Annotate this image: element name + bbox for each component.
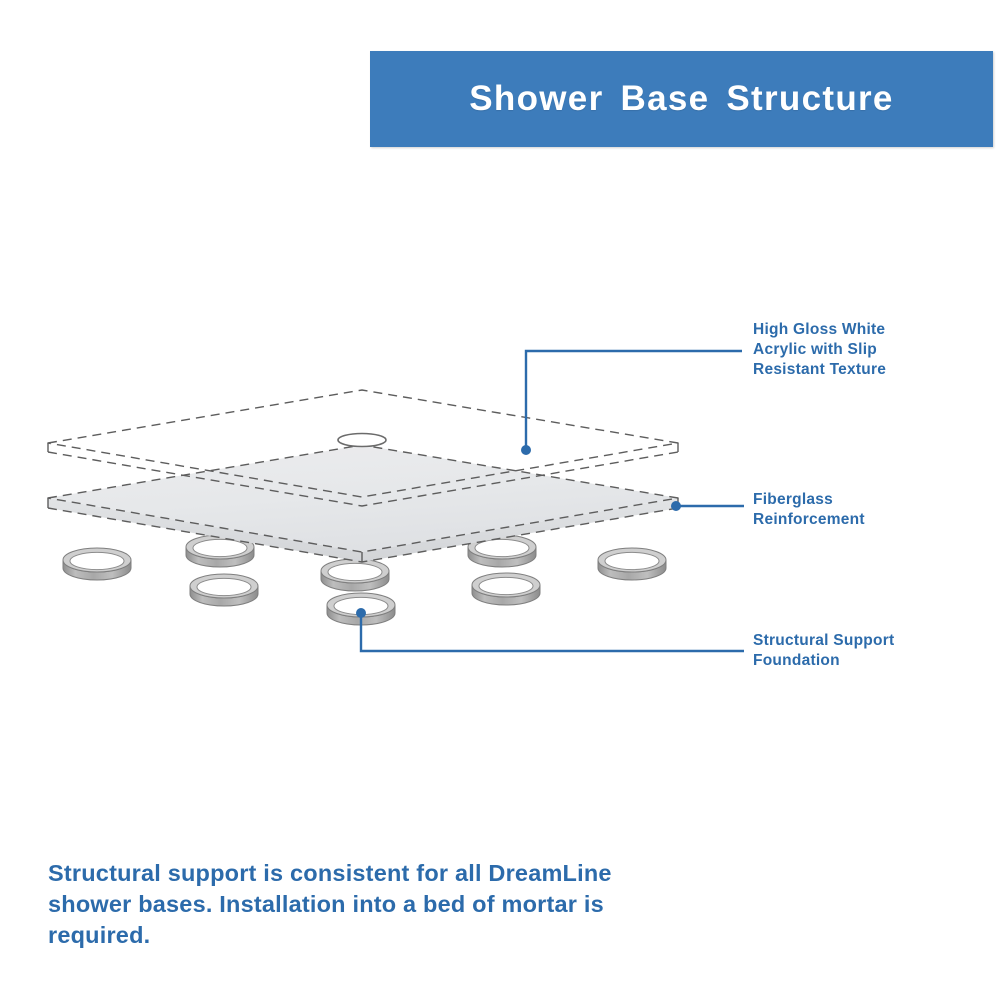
support-ring bbox=[598, 548, 666, 580]
leader-dot-structural bbox=[356, 608, 366, 618]
header-banner: Shower Base Structure bbox=[370, 51, 993, 147]
page-root: Shower Base Structure bbox=[0, 0, 1000, 1000]
support-ring bbox=[190, 574, 258, 606]
callout-label-fiberglass: Fiberglass Reinforcement bbox=[753, 490, 968, 530]
callout-label-structural: Structural Support Foundation bbox=[753, 631, 968, 671]
support-ring bbox=[186, 535, 254, 567]
leader-dot-acrylic bbox=[521, 445, 531, 455]
footer-note: Structural support is consistent for all… bbox=[48, 858, 688, 951]
support-ring bbox=[472, 573, 540, 605]
drain-ellipse bbox=[338, 434, 386, 447]
fiberglass-panel bbox=[48, 445, 678, 562]
support-ring bbox=[468, 535, 536, 567]
acrylic-top-panel bbox=[48, 390, 678, 506]
support-ring bbox=[321, 559, 389, 591]
structural-support-rings bbox=[63, 535, 666, 625]
leader-line-structural bbox=[361, 613, 744, 651]
support-ring bbox=[63, 548, 131, 580]
leader-line-acrylic bbox=[526, 351, 742, 450]
support-ring bbox=[327, 593, 395, 625]
callout-leader-lines bbox=[356, 351, 744, 651]
page-title: Shower Base Structure bbox=[469, 79, 893, 119]
leader-dot-fiberglass bbox=[671, 501, 681, 511]
callout-label-acrylic: High Gloss White Acrylic with Slip Resis… bbox=[753, 320, 968, 380]
